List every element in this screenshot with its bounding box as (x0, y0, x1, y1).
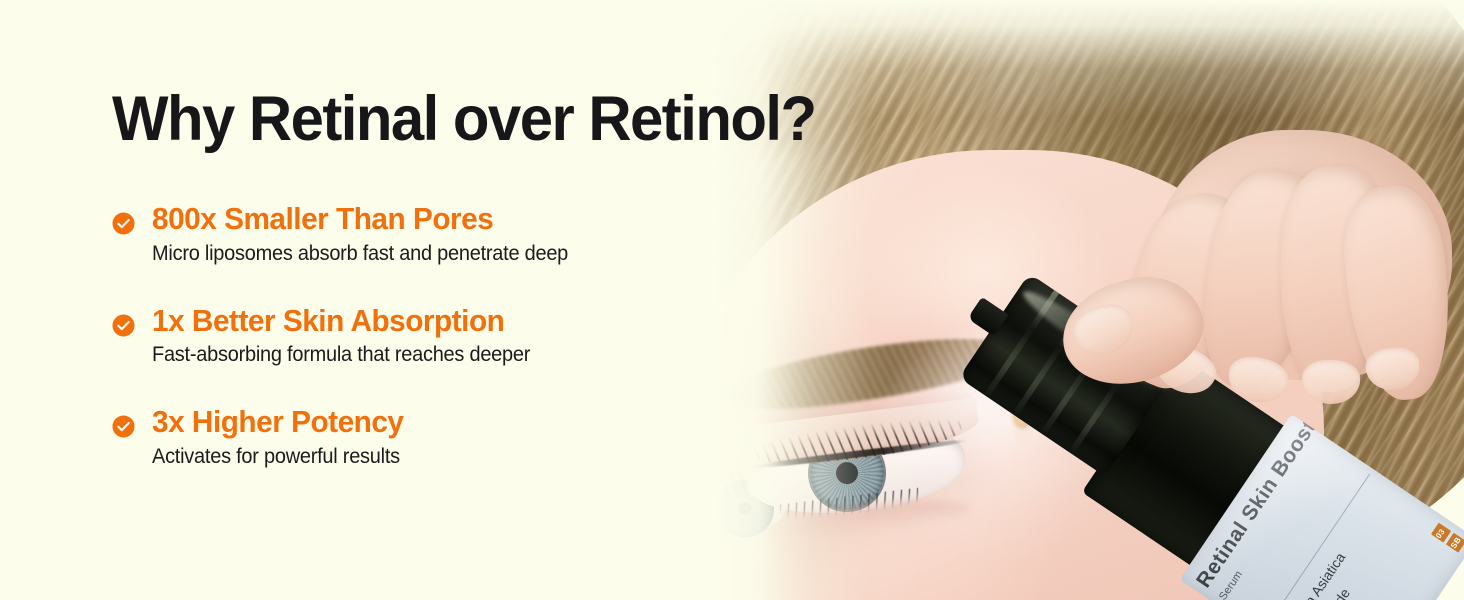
check-circle-icon (112, 212, 135, 235)
model-hand (1066, 130, 1464, 460)
label-badge-group: 03 SB (1431, 523, 1464, 553)
feature-item-better-absorption: 1x Better Skin Absorption Fast-absorbing… (112, 302, 732, 370)
feature-list: 800x Smaller Than Pores Micro liposomes … (112, 200, 732, 471)
feature-title: 800x Smaller Than Pores (152, 200, 709, 238)
promo-banner: Retinal Skin Boost Serum Centella Asiati… (0, 0, 1464, 600)
check-circle-icon (112, 314, 135, 337)
feature-description: Micro liposomes absorb fast and penetrat… (152, 240, 703, 268)
banner-content: Why Retinal over Retinol? 800x Smaller T… (0, 0, 760, 600)
fingernail (1301, 359, 1361, 405)
feature-title: 1x Better Skin Absorption (152, 302, 709, 340)
label-badge-code: SB (1446, 533, 1464, 553)
page-title: Why Retinal over Retinol? (112, 88, 816, 151)
feature-item-smaller-than-pores: 800x Smaller Than Pores Micro liposomes … (112, 200, 732, 268)
feature-title: 3x Higher Potency (152, 403, 709, 441)
check-circle-icon (112, 415, 135, 438)
feature-item-higher-potency: 3x Higher Potency Activates for powerful… (112, 403, 732, 471)
feature-description: Fast-absorbing formula that reaches deep… (152, 341, 703, 369)
feature-description: Activates for powerful results (152, 443, 703, 471)
